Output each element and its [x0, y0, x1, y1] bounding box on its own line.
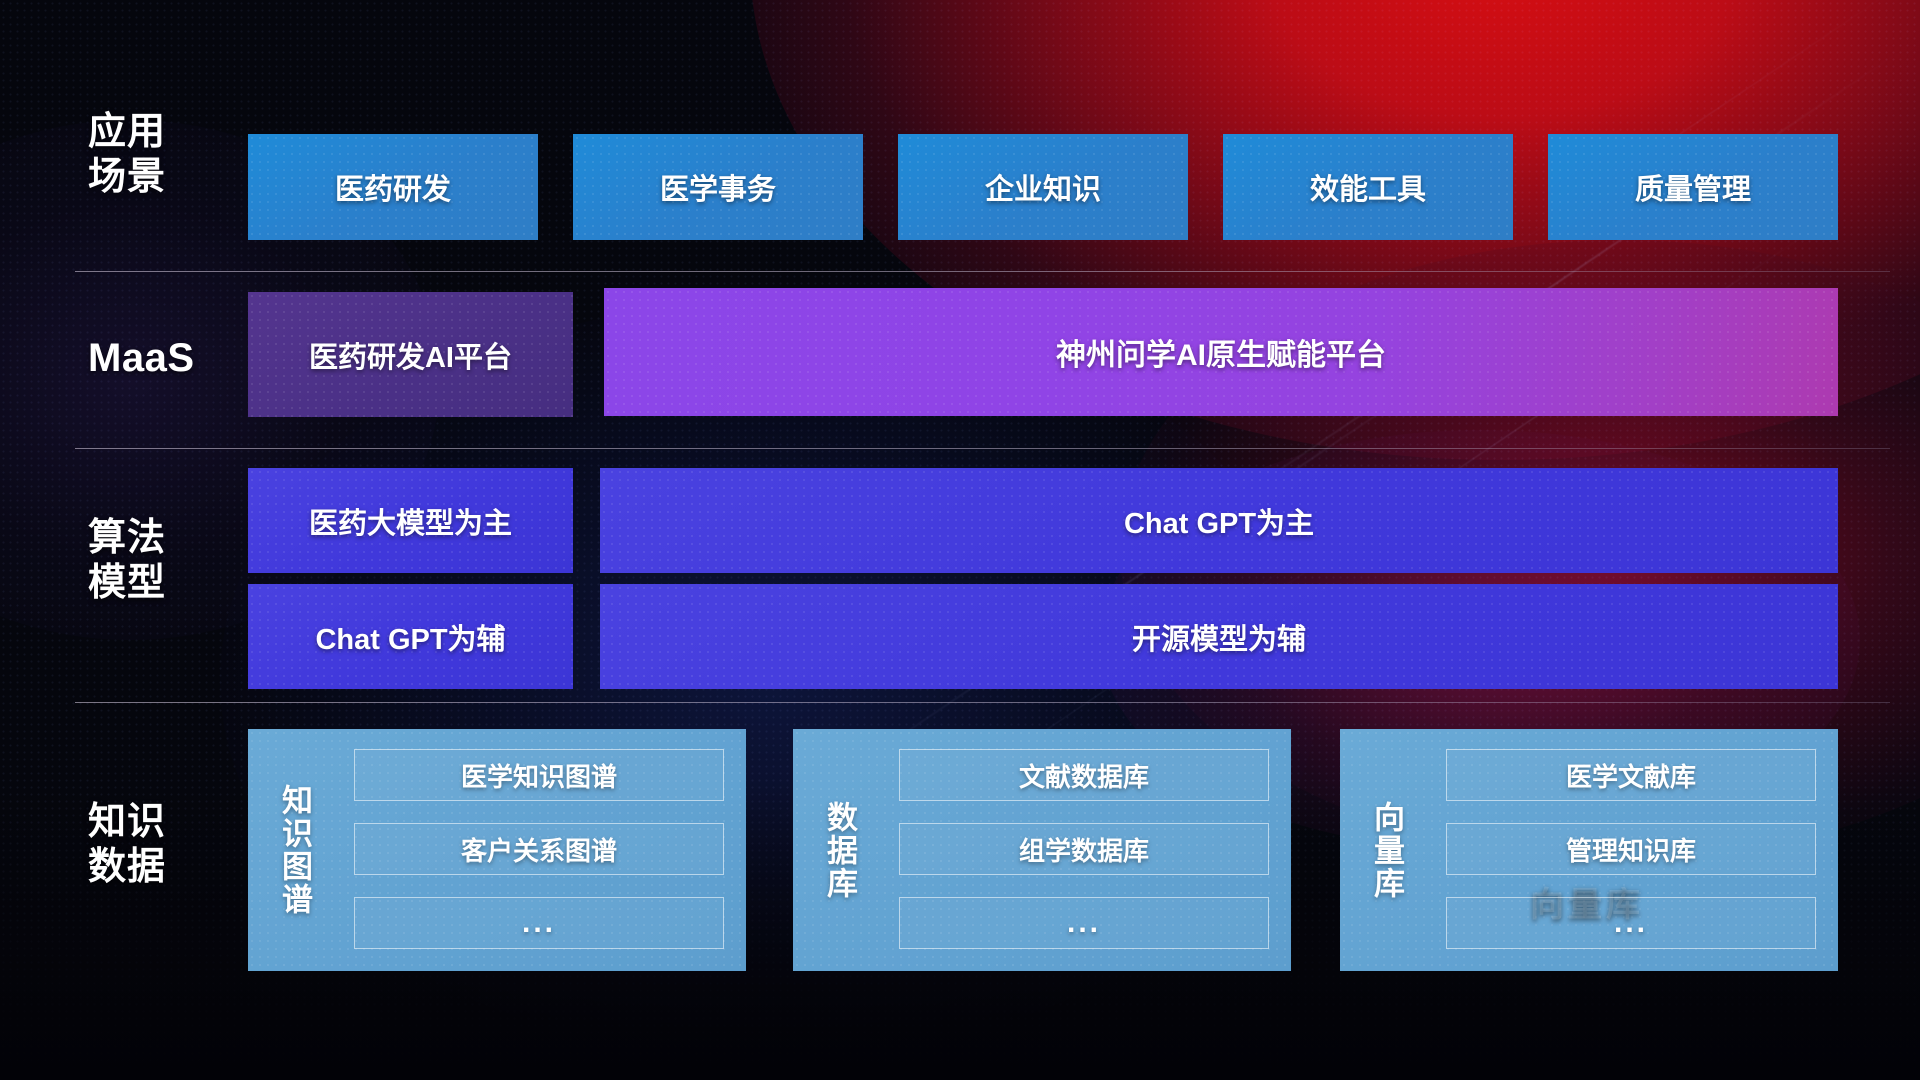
knowledge-item-label: 医学知识图谱 — [461, 757, 617, 794]
app-box-label: 医学事务 — [660, 166, 776, 208]
algo-box-label: 开源模型为辅 — [1132, 616, 1306, 658]
app-box-1[interactable]: 医药研发 — [248, 134, 538, 240]
knowledge-item-label: 文献数据库 — [1019, 757, 1149, 794]
architecture-diagram: 应用 场景 医药研发 医学事务 企业知识 效能工具 质量管理 MaaS — [0, 0, 1920, 1080]
algo-box-label: 医药大模型为主 — [309, 500, 512, 542]
knowledge-group-database-label: 数据库 — [793, 729, 885, 971]
algo-box-chatgpt-main[interactable]: Chat GPT为主 — [600, 468, 1838, 573]
maas-box-label: 神州问学AI原生赋能平台 — [1056, 330, 1386, 374]
algo-box-opensource-aux[interactable]: 开源模型为辅 — [600, 584, 1838, 689]
app-box-label: 企业知识 — [985, 166, 1101, 208]
knowledge-item-label: 客户关系图谱 — [461, 831, 617, 868]
knowledge-group-graph-label: 知识图谱 — [248, 729, 340, 971]
row-label-maas: MaaS — [88, 335, 238, 382]
knowledge-item-graph-2[interactable]: 客户关系图谱 — [354, 823, 724, 875]
algo-box-label: Chat GPT为辅 — [315, 616, 505, 658]
knowledge-item-label: 管理知识库 — [1566, 831, 1696, 868]
row-label-application: 应用 场景 — [88, 110, 238, 200]
divider-maas-algorithm — [75, 448, 1890, 449]
app-box-2[interactable]: 医学事务 — [573, 134, 863, 240]
row-label-line: 模型 — [88, 561, 238, 606]
algo-box-label: Chat GPT为主 — [1124, 500, 1314, 542]
knowledge-item-graph-1[interactable]: 医学知识图谱 — [354, 749, 724, 801]
algo-box-pharma-main[interactable]: 医药大模型为主 — [248, 468, 573, 573]
maas-box-shenzhou-platform[interactable]: 神州问学AI原生赋能平台 — [604, 288, 1838, 416]
knowledge-item-database-3[interactable]: ... — [899, 897, 1269, 949]
row-label-line: 数据 — [88, 845, 238, 890]
row-label-line: MaaS — [88, 335, 238, 382]
knowledge-item-database-1[interactable]: 文献数据库 — [899, 749, 1269, 801]
knowledge-item-label: ... — [522, 906, 556, 940]
app-box-5[interactable]: 质量管理 — [1548, 134, 1838, 240]
row-label-line: 应用 — [88, 110, 238, 155]
maas-box-label: 医药研发AI平台 — [309, 334, 512, 376]
algo-box-chatgpt-aux[interactable]: Chat GPT为辅 — [248, 584, 573, 689]
app-box-label: 效能工具 — [1310, 166, 1426, 208]
app-box-label: 医药研发 — [335, 166, 451, 208]
knowledge-group-vector[interactable]: 向量库 向量库 医学文献库 管理知识库 ... — [1340, 729, 1838, 971]
knowledge-item-graph-3[interactable]: ... — [354, 897, 724, 949]
row-label-line: 算法 — [88, 516, 238, 561]
knowledge-group-graph[interactable]: 知识图谱 医学知识图谱 客户关系图谱 ... — [248, 729, 746, 971]
knowledge-item-vector-2[interactable]: 管理知识库 — [1446, 823, 1816, 875]
row-label-knowledge: 知识 数据 — [88, 800, 238, 890]
knowledge-item-vector-3[interactable]: ... — [1446, 897, 1816, 949]
row-label-line: 场景 — [88, 155, 238, 200]
knowledge-item-database-2[interactable]: 组学数据库 — [899, 823, 1269, 875]
row-label-line: 知识 — [88, 800, 238, 845]
knowledge-group-database[interactable]: 数据库 文献数据库 组学数据库 ... — [793, 729, 1291, 971]
knowledge-item-label: 组学数据库 — [1019, 831, 1149, 868]
app-box-3[interactable]: 企业知识 — [898, 134, 1188, 240]
knowledge-item-label: 医学文献库 — [1566, 757, 1696, 794]
row-label-algorithm: 算法 模型 — [88, 516, 238, 606]
divider-algorithm-knowledge — [75, 702, 1890, 703]
knowledge-group-vector-label: 向量库 — [1340, 729, 1432, 971]
maas-box-pharma-platform[interactable]: 医药研发AI平台 — [248, 292, 573, 417]
divider-application-maas — [75, 271, 1890, 272]
app-box-4[interactable]: 效能工具 — [1223, 134, 1513, 240]
app-box-label: 质量管理 — [1635, 166, 1751, 208]
knowledge-item-vector-1[interactable]: 医学文献库 — [1446, 749, 1816, 801]
knowledge-item-label: ... — [1614, 906, 1648, 940]
knowledge-item-label: ... — [1067, 906, 1101, 940]
